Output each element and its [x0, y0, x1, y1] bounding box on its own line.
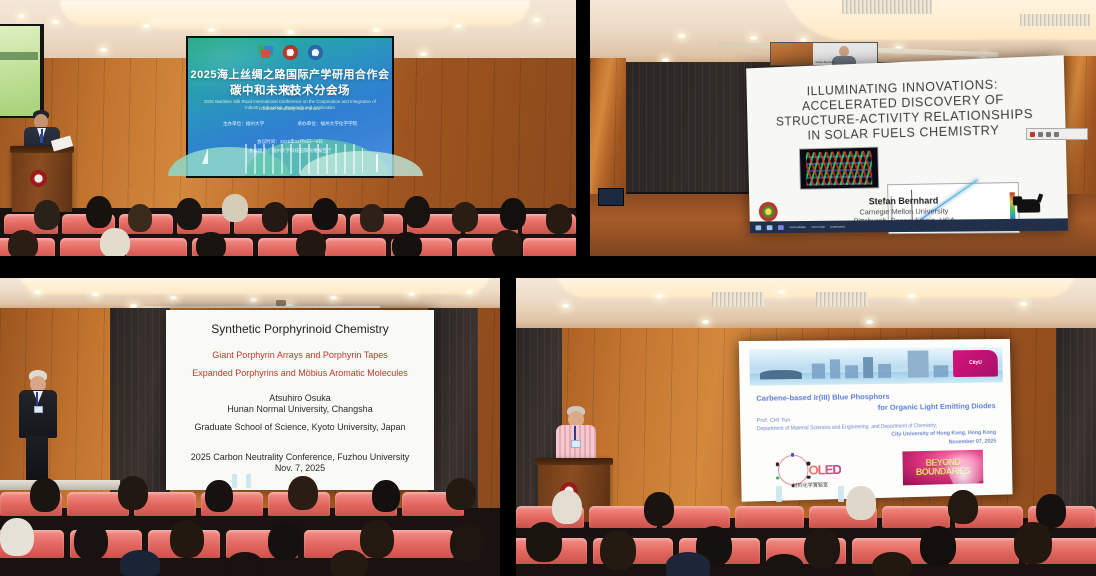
slide-affiliation-2: Graduate School of Science, Kyoto Univer…: [166, 422, 434, 432]
water-bottle: [246, 474, 251, 488]
skyline-building: [760, 370, 802, 380]
led-venue-label: 会议地点：福州大学科技园阳光楼报告厅: [188, 147, 392, 156]
downlight: [250, 298, 257, 302]
slide-banner-hong-kong-skyline: CityU: [749, 347, 1003, 386]
windmill: [376, 154, 378, 172]
audience-head: [546, 204, 572, 234]
water-bottle: [776, 486, 782, 502]
slide-date-line: Nov. 7, 2025: [166, 463, 434, 473]
downlight: [287, 30, 294, 34]
pip-webcam: Stefan Bernhard: [813, 43, 877, 65]
downlight: [533, 18, 540, 22]
audience-head: [526, 522, 562, 562]
audience-head: [176, 198, 202, 230]
downlight: [1020, 302, 1027, 306]
water-bottle: [838, 486, 844, 502]
panel-top-right: Stefan Bernhard ILLUMINATING INNOVATIONS…: [590, 0, 1096, 256]
downlight: [170, 296, 177, 300]
podium-screen-small: [598, 188, 624, 206]
standing-speaker: [16, 370, 60, 482]
figure-molecular-lattice: [799, 147, 879, 190]
wall-dark-right: [428, 308, 478, 508]
audience-head: [360, 520, 394, 558]
skyline-building: [845, 366, 858, 379]
seat: [325, 238, 386, 256]
audience-head: [100, 228, 130, 256]
downlight: [143, 24, 150, 28]
skyline-building: [878, 364, 891, 379]
panel-top-left: 新 山 2025海上丝绸之路国际产学研用合作会议 碳中和未来技术分会场 2025…: [0, 0, 576, 256]
audience-head: [452, 202, 478, 232]
downlight: [420, 52, 427, 56]
ceiling-cove: [20, 278, 490, 294]
audience-head: [846, 486, 876, 520]
seat: [735, 506, 803, 528]
ceiling-vent: [842, 0, 932, 14]
audience-head: [500, 198, 526, 230]
led-logo-row: 新 山: [188, 45, 392, 60]
slide-red-line-1: Giant Porphyrin Arrays and Porphyrin Tap…: [166, 350, 434, 360]
seat-row: [516, 502, 1096, 528]
downlight: [373, 28, 380, 32]
node: [807, 475, 811, 479]
audience-head: [205, 480, 233, 512]
taskbar-item-zoom-widget[interactable]: zoom-widget: [789, 225, 805, 229]
teams-icon[interactable]: [778, 225, 784, 230]
slide-title-line1: Carbene-based Ir(III) Blue Phosphors: [756, 392, 890, 403]
downlight: [330, 296, 337, 300]
side-screen-text: [0, 52, 38, 60]
audience-head: [196, 232, 226, 256]
audience-head: [920, 526, 956, 566]
zoom-control-icon[interactable]: [1054, 132, 1059, 137]
photo-collage: 新 山 2025海上丝绸之路国际产学研用合作会议 碳中和未来技术分会场 2025…: [0, 0, 1096, 576]
audience-head: [288, 476, 318, 510]
audience-head: [118, 476, 148, 510]
oled-lab-logo: OLED 材料化学實驗室: [765, 451, 853, 489]
search-icon[interactable]: [767, 225, 773, 230]
audience-head: [74, 522, 108, 560]
projection-screen: CityU Carbene-based Ir(III) Blue Phospho…: [739, 339, 1013, 502]
seat-row: [0, 488, 500, 516]
skyline-building: [830, 359, 841, 379]
podium-seal: [30, 170, 47, 187]
slide-speaker-name: Prof. CHI Yun: [757, 418, 791, 425]
slide-date-line: November 07, 2025: [949, 439, 997, 446]
legs: [26, 436, 48, 480]
oled-logo-subtext: 材料化学實驗室: [792, 481, 828, 489]
audience-head: [372, 480, 400, 512]
downlight: [34, 290, 41, 294]
audience-head-cap: [666, 552, 710, 576]
logo-seal-blue-icon: 山: [308, 45, 323, 60]
audience-head: [222, 194, 248, 222]
audience-head: [804, 528, 840, 568]
audience-head: [170, 520, 204, 558]
downlight: [18, 14, 25, 18]
presenter-pip-window: Stefan Bernhard: [770, 42, 878, 66]
name-badge: [34, 406, 43, 413]
audience-head: [0, 518, 34, 556]
start-icon[interactable]: [755, 225, 761, 230]
downlight: [750, 36, 757, 40]
skyline-building: [812, 364, 825, 379]
windows-taskbar[interactable]: zoom-widget zoom-chat powerpoint: [750, 218, 1068, 233]
audience-head: [492, 230, 522, 256]
audience-head: [360, 204, 384, 232]
logo-square-colorful-icon: [258, 45, 273, 60]
led-organizer-label: 承办单位：福州大学化学学院: [297, 121, 357, 126]
side-screen-green: [0, 26, 40, 116]
downlight: [455, 24, 462, 28]
zoom-control-bar[interactable]: [1026, 128, 1088, 140]
ceiling-projector: [276, 300, 286, 306]
audience-head: [30, 478, 60, 512]
led-subtitle-line2: Carbon Neutrality Sub-Forum: [188, 106, 392, 112]
downlight: [100, 48, 107, 52]
slide-speaker-name: Atsuhiro Osuka: [166, 393, 434, 403]
ceiling-vent: [1020, 14, 1090, 26]
skyline-building-tall: [908, 350, 928, 377]
taskbar-item-zoom-chat[interactable]: zoom-chat: [811, 225, 825, 229]
led-title-line2: 碳中和未来技术分会场: [188, 82, 392, 98]
led-date-label: 会议时间：2025年11月6日—8日: [188, 138, 392, 147]
slide-title-line2: for Organic Light Emitting Diodes: [878, 401, 996, 412]
audience-head: [764, 554, 804, 576]
pip-thumbnail: [771, 43, 813, 65]
beyond-boundaries-logo: BEYOND BOUNDARIES: [902, 450, 983, 486]
seat: [126, 238, 187, 256]
wall-dark-right: [1056, 328, 1096, 518]
audience-head: [330, 550, 368, 576]
water-bottle: [232, 474, 237, 488]
slide-red-line-2: Expanded Porphyrins and Möbius Aromatic …: [166, 368, 434, 378]
led-host-label: 主办单位：福州大学: [223, 121, 264, 126]
audience-head: [450, 524, 484, 562]
lanyard: [574, 426, 576, 441]
audience-head: [552, 490, 582, 524]
projection-screen: ILLUMINATING INNOVATIONS: ACCELERATED DI…: [746, 55, 1068, 233]
audience-head: [226, 552, 264, 576]
audience-head-cap: [120, 550, 160, 576]
beyond-swoosh: [939, 450, 984, 486]
audience-head: [1014, 522, 1052, 564]
audience-head: [644, 492, 674, 526]
downlight: [466, 290, 473, 294]
audience-head: [446, 478, 476, 510]
audience-head: [392, 232, 422, 256]
zoom-control-icon[interactable]: [1030, 132, 1035, 137]
ceiling-vent: [712, 292, 764, 306]
lanyard: [36, 392, 38, 406]
node: [776, 476, 780, 480]
audience-head: [8, 230, 38, 256]
slide-title: Synthetic Porphyrinoid Chemistry: [166, 322, 434, 336]
downlight: [778, 290, 785, 294]
downlight: [656, 294, 663, 298]
logo-seal-red-icon: 新: [283, 45, 298, 60]
podium-top: [535, 458, 613, 465]
led-wall-screen: 新 山 2025海上丝绸之路国际产学研用合作会议 碳中和未来技术分会场 2025…: [186, 36, 394, 178]
downlight: [866, 320, 873, 324]
zoom-control-icon[interactable]: [1038, 132, 1043, 137]
downlight: [908, 294, 915, 298]
necktie: [40, 134, 43, 143]
scottie-dog-icon: [1017, 199, 1040, 213]
audience-head: [600, 530, 636, 570]
audience-head: [872, 552, 912, 576]
oled-logo-text: OLED: [808, 461, 841, 477]
wall-wood-strip: [590, 58, 626, 208]
slide-affiliation-1: Hunan Normal University, Changsha: [166, 404, 434, 414]
taskbar-item-powerpoint[interactable]: powerpoint: [831, 225, 845, 229]
panel-bottom-right: CityU Carbene-based Ir(III) Blue Phospho…: [516, 278, 1096, 576]
seat: [523, 238, 576, 256]
node: [807, 462, 811, 466]
downlight: [208, 28, 215, 32]
audience-head: [296, 230, 326, 256]
audience-head: [86, 196, 112, 228]
ceiling-cove-2: [150, 18, 450, 30]
audience-head: [404, 196, 430, 228]
audience-head: [268, 522, 302, 560]
downlight: [408, 292, 415, 296]
led-host-row: 主办单位：福州大学 承办单位：福州大学化学学院: [188, 120, 392, 129]
ceiling-vent: [816, 292, 868, 306]
name-badge: [571, 440, 581, 448]
downlight: [702, 320, 709, 324]
panel-bottom-left: Synthetic Porphyrinoid Chemistry Giant P…: [0, 278, 500, 576]
downlight: [92, 292, 99, 296]
skyline-building: [933, 365, 948, 377]
audience-head: [34, 200, 60, 230]
downlight: [52, 20, 59, 24]
audience-head: [128, 204, 152, 232]
downlight: [678, 34, 685, 38]
node: [776, 462, 780, 466]
projection-screen: Synthetic Porphyrinoid Chemistry Giant P…: [166, 310, 434, 490]
pip-name-label: Stefan Bernhard: [815, 61, 834, 64]
slide-event-line: 2025 Carbon Neutrality Conference, Fuzho…: [166, 452, 434, 462]
audience-head: [262, 202, 288, 232]
carnegie-mellon-tartan-flower-icon: [759, 202, 778, 222]
cityu-logo-icon: CityU: [953, 350, 998, 377]
audience-head: [312, 198, 338, 230]
slide-affiliation-2: City University of Hong Kong, Hong Kong: [891, 430, 996, 438]
downlight: [562, 304, 569, 308]
seat-row: [0, 236, 576, 256]
node: [791, 453, 795, 457]
seat: [882, 506, 950, 528]
zoom-control-icon[interactable]: [1046, 132, 1051, 137]
skyline-building: [863, 357, 874, 379]
audience-head: [948, 490, 978, 524]
